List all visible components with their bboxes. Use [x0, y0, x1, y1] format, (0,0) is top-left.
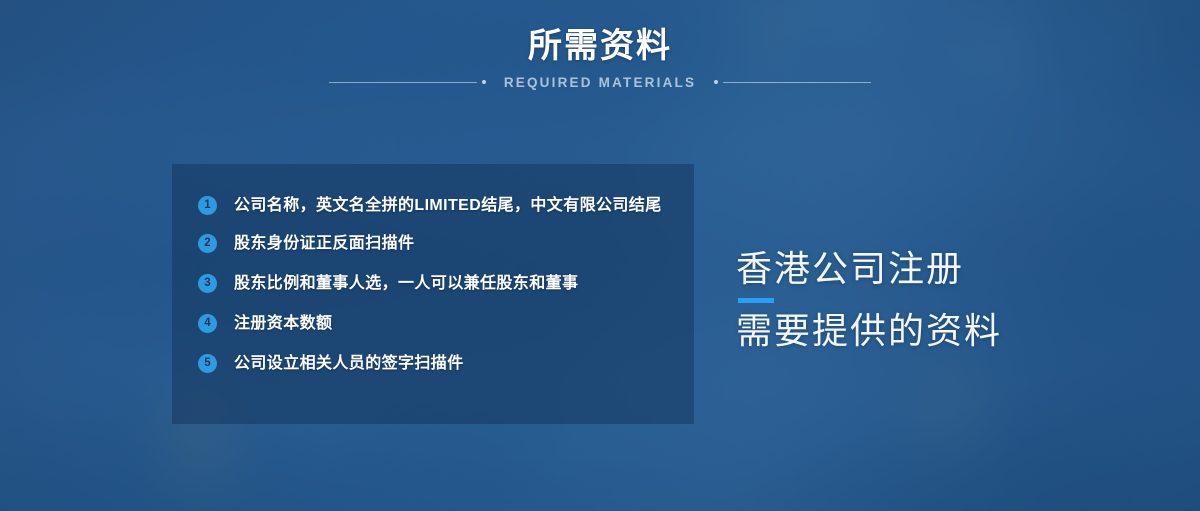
list-item-label: 股东身份证正反面扫描件 — [234, 228, 414, 260]
list-item-label: 公司名称，英文名全拼的LIMITED结尾，中文有限公司结尾 — [234, 190, 662, 222]
materials-panel: 1 公司名称，英文名全拼的LIMITED结尾，中文有限公司结尾 2 股东身份证正… — [172, 164, 694, 424]
rule-dot — [714, 80, 718, 84]
decorative-rule-right — [714, 78, 871, 86]
list-item: 1 公司名称，英文名全拼的LIMITED结尾，中文有限公司结尾 — [198, 190, 670, 222]
list-item-number-badge: 4 — [198, 314, 217, 333]
rule-dot — [482, 80, 486, 84]
materials-list: 1 公司名称，英文名全拼的LIMITED结尾，中文有限公司结尾 2 股东身份证正… — [198, 190, 670, 388]
list-item: 2 股东身份证正反面扫描件 — [198, 228, 670, 260]
side-heading-line-1: 香港公司注册 — [736, 247, 1002, 291]
list-item-number-badge: 2 — [198, 234, 217, 253]
rule-line — [723, 82, 871, 83]
list-item-number-badge: 1 — [198, 196, 217, 215]
list-item: 5 公司设立相关人员的签字扫描件 — [198, 348, 670, 380]
required-materials-banner: 所需资料 REQUIRED MATERIALS 1 公司名称，英文名全拼的LIM… — [0, 0, 1200, 511]
side-heading-line-2: 需要提供的资料 — [736, 309, 1002, 353]
subtitle-row: REQUIRED MATERIALS — [0, 71, 1200, 93]
side-heading: 香港公司注册 需要提供的资料 — [736, 247, 1002, 353]
page-title: 所需资料 — [0, 26, 1200, 66]
list-item: 4 注册资本数额 — [198, 308, 670, 340]
decorative-rule-left — [329, 78, 486, 86]
list-item-label: 注册资本数额 — [234, 308, 332, 340]
list-item: 3 股东比例和董事人选，一人可以兼任股东和董事 — [198, 268, 670, 300]
list-item-number-badge: 5 — [198, 354, 217, 373]
list-item-number-badge: 3 — [198, 274, 217, 293]
rule-line — [329, 82, 477, 83]
side-heading-accent-bar — [738, 298, 774, 303]
list-item-label: 股东比例和董事人选，一人可以兼任股东和董事 — [234, 268, 578, 300]
page-subtitle: REQUIRED MATERIALS — [504, 75, 696, 90]
list-item-label: 公司设立相关人员的签字扫描件 — [234, 348, 464, 380]
banner-header: 所需资料 REQUIRED MATERIALS — [0, 26, 1200, 93]
